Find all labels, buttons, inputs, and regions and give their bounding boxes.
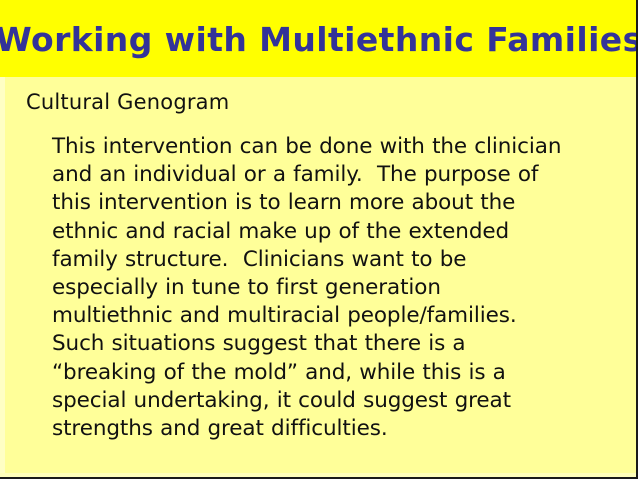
body-line: “breaking of the mold” and, while this i… bbox=[52, 359, 624, 387]
body-line: multiethnic and multiracial people/famil… bbox=[52, 302, 624, 330]
slide-subheading: Cultural Genogram bbox=[26, 89, 229, 115]
body-line: ethnic and racial make up of the extende… bbox=[52, 218, 624, 246]
slide-bottom-edge bbox=[0, 473, 638, 477]
body-line: Such situations suggest that there is a bbox=[52, 330, 624, 358]
slide-title-band: Working with Multiethnic Families bbox=[0, 0, 638, 77]
body-line: special undertaking, it could suggest gr… bbox=[52, 387, 624, 415]
presentation-slide: Working with Multiethnic Families Cultur… bbox=[0, 0, 638, 479]
slide-title: Working with Multiethnic Families bbox=[0, 23, 638, 56]
body-line: strengths and great difficulties. bbox=[52, 415, 624, 443]
body-line: especially in tune to first generation bbox=[52, 274, 624, 302]
slide-body-paragraph: This intervention can be done with the c… bbox=[52, 133, 624, 443]
slide-body: Cultural Genogram This intervention can … bbox=[0, 77, 638, 479]
body-line: and an individual or a family. The purpo… bbox=[52, 161, 624, 189]
body-line: family structure. Clinicians want to be bbox=[52, 246, 624, 274]
body-line: This intervention can be done with the c… bbox=[52, 133, 624, 161]
body-line: this intervention is to learn more about… bbox=[52, 189, 624, 217]
